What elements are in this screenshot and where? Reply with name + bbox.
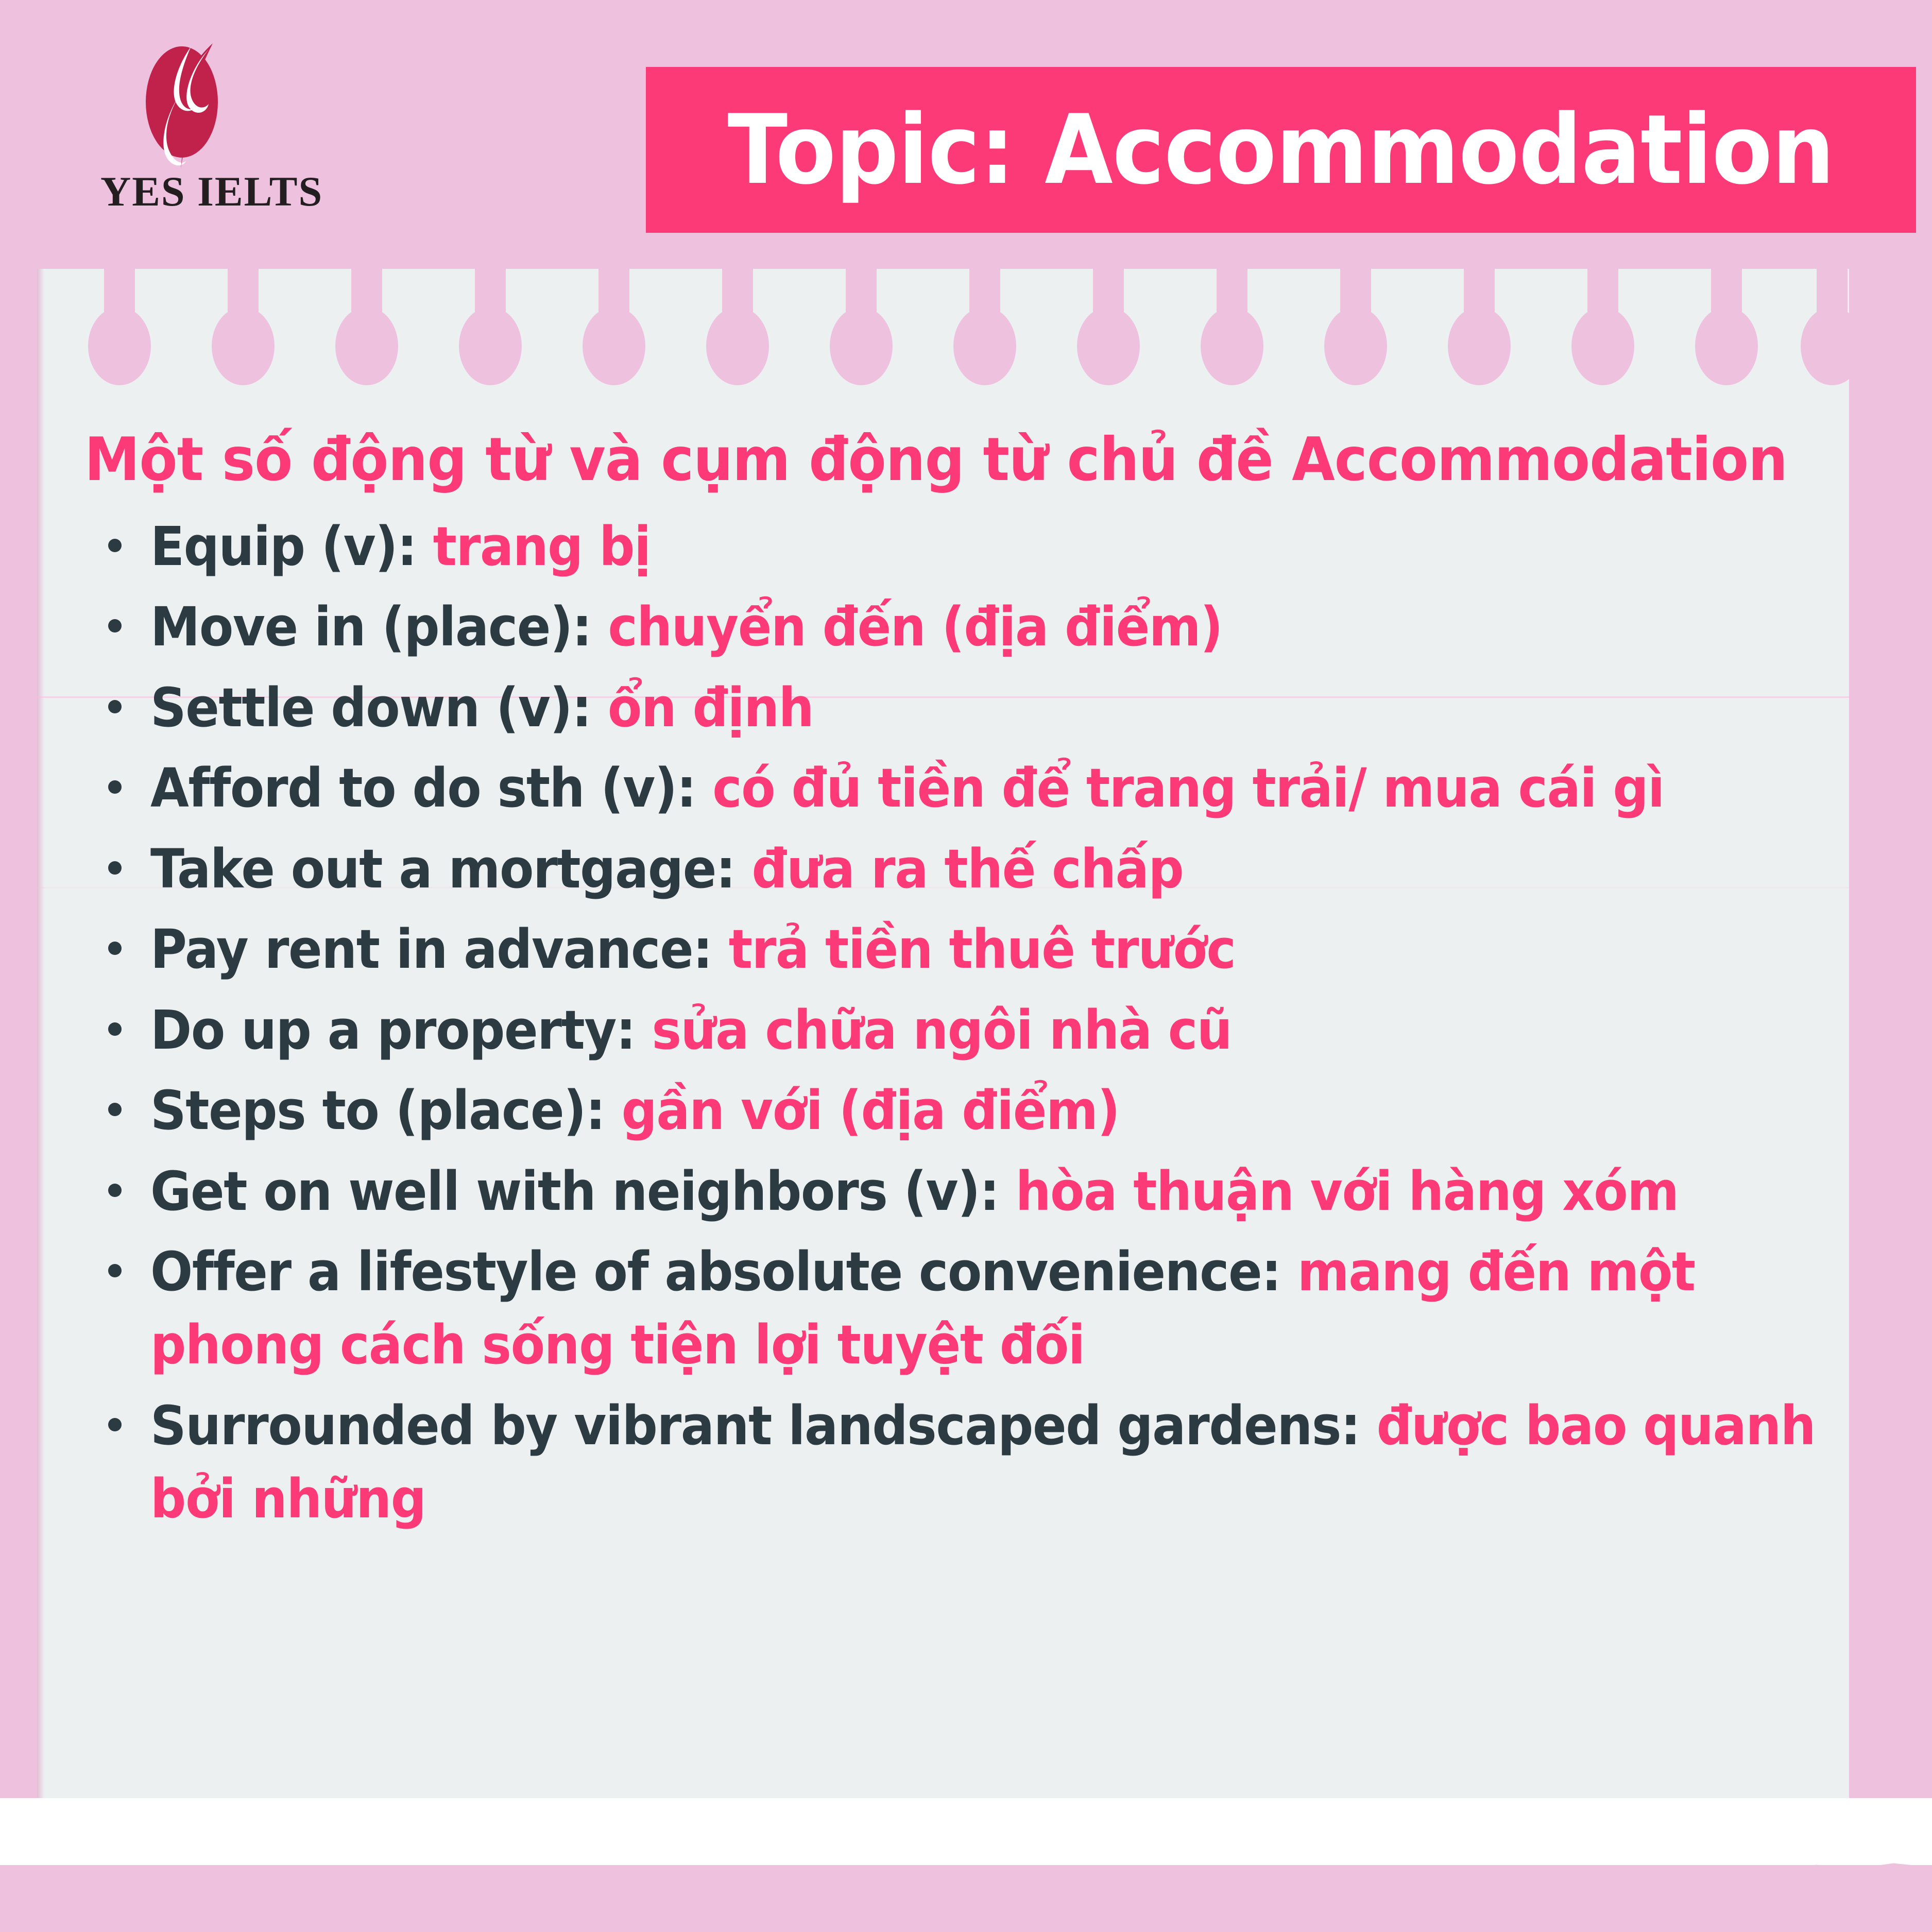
list-item: Steps to (place): gần với (địa điểm) (84, 1074, 1846, 1147)
list-item: Surrounded by vibrant landscaped gardens… (84, 1389, 1846, 1536)
list-item: Take out a mortgage: đưa ra thế chấp (84, 832, 1846, 905)
bullet-icon (108, 539, 122, 552)
term-en: Pay rent in advance: (150, 918, 729, 981)
paper-hole (351, 245, 382, 339)
list-item: Do up a property: sửa chữa ngôi nhà cũ (84, 994, 1846, 1067)
paper-hole (1587, 245, 1618, 339)
term-en: Do up a property: (150, 999, 652, 1062)
term-vi: ổn định (608, 676, 813, 739)
term-en: Get on well with neighbors (v): (150, 1160, 1016, 1223)
paper-hole (1093, 245, 1124, 339)
paper-hole (228, 245, 259, 339)
brand-wordmark: YES IELTS (100, 167, 322, 216)
term-vi: có đủ tiền để trang trải/ mua cái gì (712, 757, 1664, 819)
term-en: Move in (place): (150, 595, 608, 658)
bullet-icon (108, 780, 122, 794)
brand-logo: YES IELTS (100, 36, 322, 237)
bullet-icon (108, 861, 122, 875)
paper-hole (1817, 245, 1848, 339)
paper-hole (1217, 245, 1247, 339)
term-vi: trang bị (433, 515, 651, 578)
paper-left-shadow (37, 269, 44, 1865)
bullet-icon (108, 619, 122, 632)
term-en: Equip (v): (150, 515, 433, 578)
bullet-icon (108, 1103, 122, 1116)
paper-hole (846, 245, 877, 339)
paper-hole (1464, 245, 1495, 339)
term-vi: sửa chữa ngôi nhà cũ (652, 999, 1232, 1062)
paper-hole (104, 245, 135, 339)
term-en: Offer a lifestyle of absolute convenienc… (150, 1240, 1297, 1303)
term-en: Afford to do sth (v): (150, 757, 712, 819)
note-title: Một số động từ và cụm động từ chủ đề Acc… (84, 429, 1723, 491)
paper-hole (475, 245, 506, 339)
term-vi: trả tiền thuê trước (729, 918, 1236, 981)
flame-feather-icon (126, 36, 250, 170)
term-vi: hòa thuận với hàng xóm (1016, 1160, 1679, 1223)
bullet-icon (108, 942, 122, 955)
paper-bottom-white-strip (0, 1798, 1932, 1865)
list-item: Afford to do sth (v): có đủ tiền để tran… (84, 751, 1846, 825)
list-item: Pay rent in advance: trả tiền thuê trước (84, 913, 1846, 986)
term-en: Settle down (v): (150, 676, 608, 739)
bullet-icon (108, 1418, 122, 1431)
paper-hole (969, 245, 1000, 339)
list-item: Settle down (v): ổn định (84, 671, 1846, 744)
paper-hole (722, 245, 753, 339)
topic-banner-title: Topic: Accommodation (728, 102, 1835, 198)
bullet-icon (108, 700, 122, 713)
topic-banner: Topic: Accommodation (646, 67, 1916, 233)
paper-hole (1711, 245, 1742, 339)
notebook-paper: Một số động từ và cụm động từ chủ đề Acc… (37, 269, 1849, 1865)
paper-hole (599, 245, 629, 339)
list-item: Get on well with neighbors (v): hòa thuậ… (84, 1155, 1846, 1228)
term-vi: gần với (địa điểm) (622, 1079, 1120, 1142)
list-item: Offer a lifestyle of absolute convenienc… (84, 1235, 1846, 1382)
term-en: Take out a mortgage: (150, 837, 751, 900)
bullet-icon (108, 1022, 122, 1036)
term-en: Steps to (place): (150, 1079, 622, 1142)
bullet-icon (108, 1184, 122, 1197)
list-item: Move in (place): chuyển đến (địa điểm) (84, 590, 1846, 663)
list-item: Equip (v): trang bị (84, 510, 1846, 583)
torn-bottom-edge (0, 1855, 1932, 1932)
bullet-icon (108, 1264, 122, 1277)
note-content: Một số động từ và cụm động từ chủ đề Acc… (84, 429, 1846, 1543)
term-vi: đưa ra thế chấp (751, 837, 1183, 900)
term-vi: chuyển đến (địa điểm) (608, 595, 1222, 658)
term-en: Surrounded by vibrant landscaped gardens… (150, 1394, 1377, 1457)
vocabulary-list: Equip (v): trang bị Move in (place): chu… (84, 510, 1846, 1536)
paper-hole (1340, 245, 1371, 339)
